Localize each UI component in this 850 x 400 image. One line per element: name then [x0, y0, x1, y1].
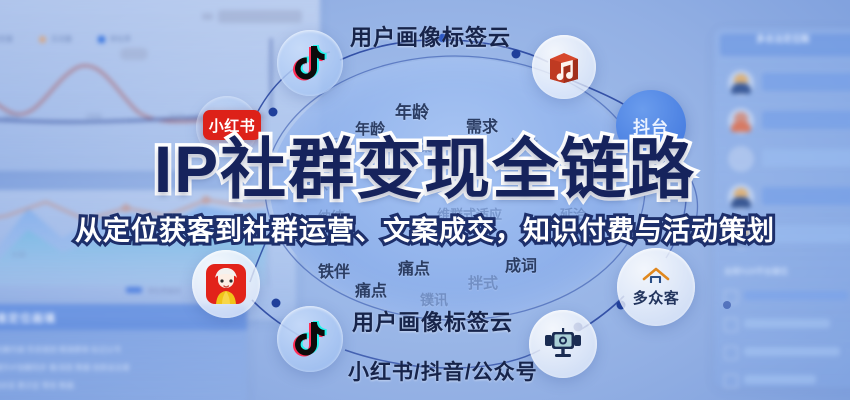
tag-cloud-word: 痛点 [355, 277, 387, 301]
node-tiktok-bottom[interactable] [277, 306, 343, 372]
tag-cloud-word: 年龄 [395, 98, 429, 123]
tag-cloud-word: 拌式 [468, 272, 498, 293]
house-icon [641, 266, 671, 286]
music-box-icon [544, 47, 584, 87]
tag-cloud-word: 成词 [505, 252, 537, 276]
projector-icon [543, 327, 583, 361]
caption-bottom: 用户画像标签云 [352, 305, 513, 337]
xiaohongshu-avatar-icon [204, 262, 248, 306]
tiktok-icon [293, 44, 327, 82]
caption-footer: 小红书/抖音/公众号 [348, 356, 538, 386]
node-duozhongke[interactable]: 多众客 [617, 248, 695, 326]
tag-cloud-word: 铁伴 [318, 258, 350, 282]
tag-cloud-word: 痛点 [398, 255, 430, 279]
node-projector[interactable] [529, 310, 597, 378]
banner-canvas: 浏览量 互动量 转化率 2005 2009 2040 2060 [0, 0, 850, 400]
node-duozhongke-label: 多众客 [633, 287, 680, 308]
page-subtitle: 从定位获客到社群运营、文案成交，知识付费与活动策划 [0, 218, 850, 245]
node-music-box[interactable] [532, 35, 596, 99]
node-tiktok-top[interactable] [277, 30, 343, 96]
caption-top: 用户画像标签云 [350, 20, 511, 52]
node-xiaohongshu-avatar[interactable] [192, 250, 260, 318]
tiktok-icon [293, 320, 327, 358]
page-title: IP社群变现全链路 [0, 136, 850, 202]
